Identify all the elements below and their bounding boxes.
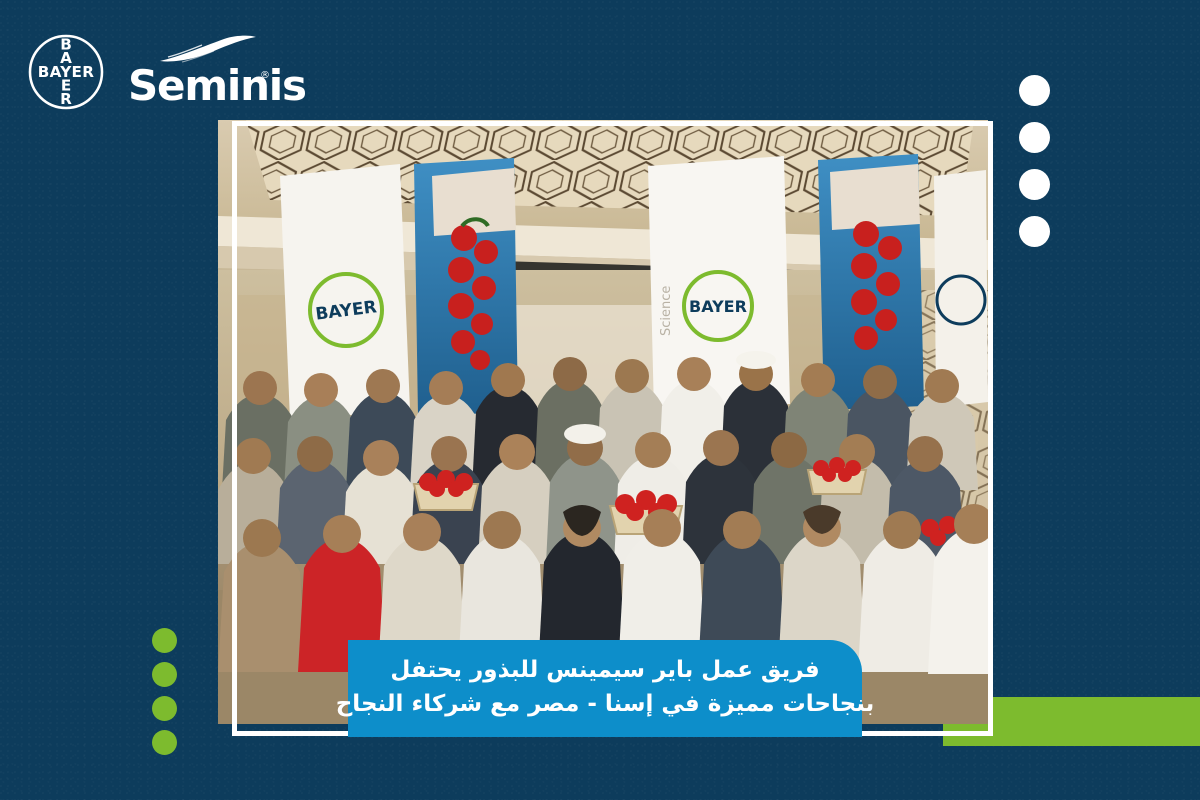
bayer-cross-logo: BAYER B A E R: [26, 32, 106, 112]
svg-text:R: R: [60, 90, 72, 108]
svg-text:A: A: [60, 49, 72, 67]
white-dot: [1019, 122, 1050, 153]
poster-canvas: BAYER B A E R Seminis ®: [0, 0, 1200, 800]
seminis-logo: Seminis ®: [128, 35, 268, 109]
seminis-wordmark: Seminis: [128, 65, 306, 107]
caption-line-2: بنجاحات مميزة في إسنا - مصر مع شركاء الن…: [336, 689, 875, 721]
white-dot-column: [1019, 75, 1050, 247]
seminis-trademark-symbol: ®: [260, 70, 270, 81]
svg-text:Science: Science: [659, 286, 674, 336]
white-dot: [1019, 216, 1050, 247]
caption-line-1: فريق عمل باير سيمينس للبذور يحتفل: [390, 655, 819, 687]
caption-banner: فريق عمل باير سيمينس للبذور يحتفل بنجاحا…: [348, 640, 862, 737]
group-photo-illustration: BAYER BAYER Science: [218, 120, 988, 724]
brand-logo-bar: BAYER B A E R Seminis ®: [26, 32, 268, 112]
green-dot: [152, 628, 177, 653]
white-dot: [1019, 169, 1050, 200]
green-dot: [152, 730, 177, 755]
group-photo: BAYER BAYER Science: [218, 120, 988, 724]
svg-text:BAYER: BAYER: [689, 297, 747, 316]
green-dot: [152, 662, 177, 687]
green-dot: [152, 696, 177, 721]
white-dot: [1019, 75, 1050, 106]
green-dot-column: [152, 628, 177, 755]
